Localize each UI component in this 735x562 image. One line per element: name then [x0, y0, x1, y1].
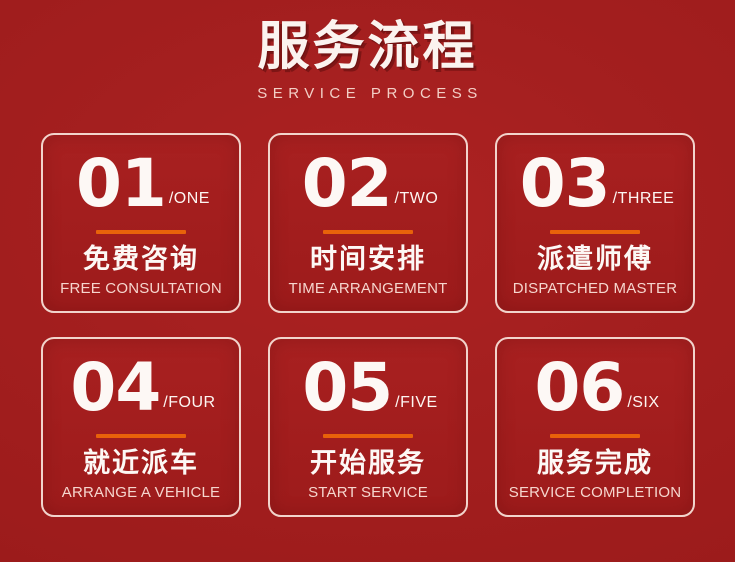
page-subtitle: SERVICE PROCESS: [0, 85, 735, 102]
step-number-row: 04 /FOUR: [43, 347, 239, 421]
step-divider: [96, 434, 186, 438]
page-title: 服务流程: [0, 18, 735, 76]
step-divider: [323, 434, 413, 438]
step-label-cn: 就近派车: [83, 449, 199, 479]
step-divider: [96, 230, 186, 234]
step-label-en: SERVICE COMPLETION: [509, 484, 682, 501]
step-divider: [550, 434, 640, 438]
step-label-cn: 服务完成: [537, 449, 653, 479]
step-number-word: /THREE: [610, 190, 675, 217]
step-label-en: FREE CONSULTATION: [60, 280, 222, 297]
step-number-word: /FOUR: [160, 394, 215, 421]
step-number-row: 05 /FIVE: [270, 347, 466, 421]
step-number-word: /SIX: [624, 394, 659, 421]
step-number-row: 06 /SIX: [497, 347, 693, 421]
step-label-cn: 开始服务: [310, 449, 426, 479]
step-number-word: /FIVE: [392, 394, 438, 421]
step-divider: [550, 230, 640, 234]
step-number: 04: [70, 356, 160, 421]
step-number-row: 03 /THREE: [497, 143, 693, 217]
step-number: 05: [302, 356, 392, 421]
step-number-word: /ONE: [166, 190, 210, 217]
process-step-card-3: 03 /THREE 派遣师傅 DISPATCHED MASTER: [495, 133, 695, 313]
step-label-en: DISPATCHED MASTER: [513, 280, 678, 297]
service-process-poster: 服务流程 SERVICE PROCESS 01 /ONE 免费咨询 FREE C…: [0, 0, 735, 562]
step-number-row: 02 /TWO: [270, 143, 466, 217]
poster-header: 服务流程 SERVICE PROCESS: [0, 18, 735, 102]
step-label-cn: 时间安排: [310, 245, 426, 275]
step-number: 06: [534, 356, 624, 421]
process-step-card-2: 02 /TWO 时间安排 TIME ARRANGEMENT: [268, 133, 468, 313]
step-number: 02: [302, 152, 392, 217]
process-step-grid: 01 /ONE 免费咨询 FREE CONSULTATION 02 /TWO 时…: [41, 133, 695, 517]
step-number: 03: [520, 152, 610, 217]
step-label-en: START SERVICE: [308, 484, 428, 501]
step-number: 01: [76, 152, 166, 217]
process-step-card-4: 04 /FOUR 就近派车 ARRANGE A VEHICLE: [41, 337, 241, 517]
step-number-word: /TWO: [392, 190, 439, 217]
step-label-cn: 派遣师傅: [537, 245, 653, 275]
step-label-en: ARRANGE A VEHICLE: [62, 484, 220, 501]
step-label-cn: 免费咨询: [83, 245, 199, 275]
process-step-card-5: 05 /FIVE 开始服务 START SERVICE: [268, 337, 468, 517]
process-step-card-1: 01 /ONE 免费咨询 FREE CONSULTATION: [41, 133, 241, 313]
process-step-card-6: 06 /SIX 服务完成 SERVICE COMPLETION: [495, 337, 695, 517]
step-divider: [323, 230, 413, 234]
step-label-en: TIME ARRANGEMENT: [288, 280, 447, 297]
step-number-row: 01 /ONE: [43, 143, 239, 217]
